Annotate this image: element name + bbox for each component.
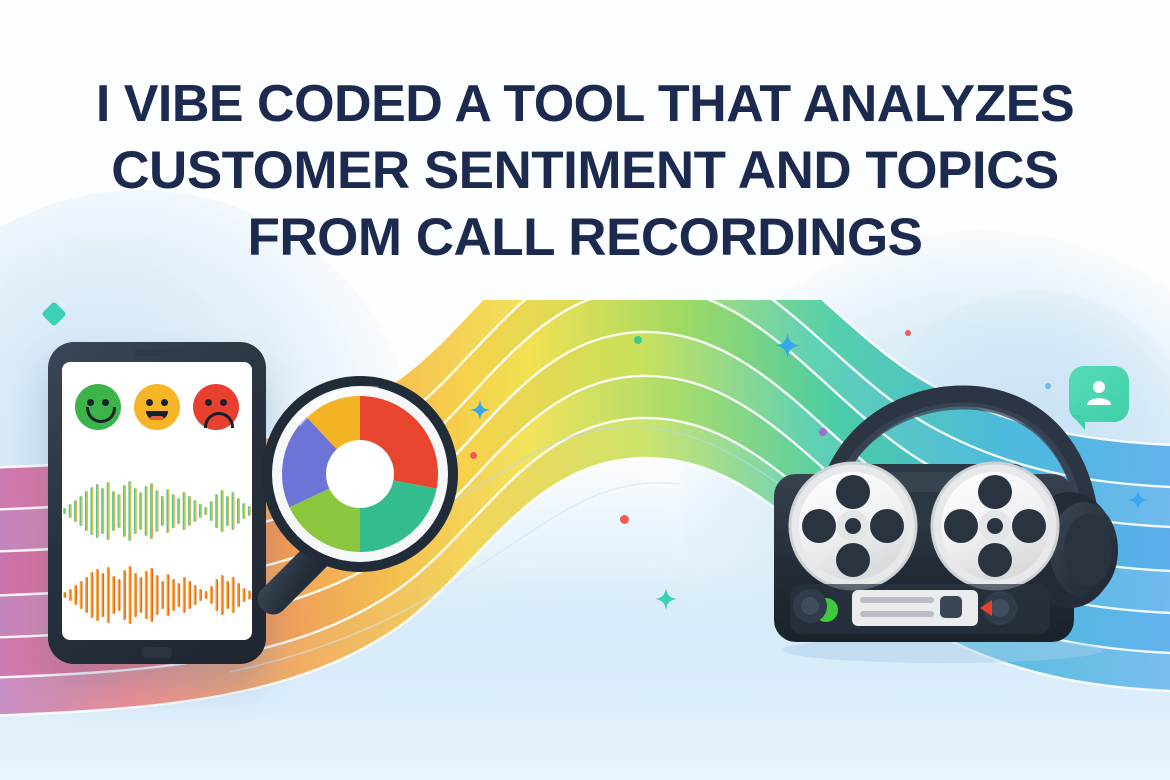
phone-speaker-notch — [134, 349, 180, 356]
eye-left-icon — [146, 399, 153, 406]
smile-mouth-icon — [86, 407, 116, 423]
phone-screen[interactable] — [62, 362, 252, 640]
display-indicator-square — [940, 596, 962, 618]
hero-banner: I VIBE CODED A TOOL THAT ANALYZES CUSTOM… — [0, 0, 1170, 780]
sparkle-star-blue-left — [470, 400, 490, 420]
eye-left-icon — [205, 399, 212, 406]
frown-mouth-icon — [204, 412, 234, 428]
bubble-tail — [1072, 415, 1085, 430]
positive-sentiment-face[interactable] — [75, 384, 121, 430]
waveform-top — [62, 474, 252, 548]
dot-red-right — [905, 330, 911, 336]
eye-left-icon — [87, 399, 94, 406]
page-title: I VIBE CODED A TOOL THAT ANALYZES CUSTOM… — [0, 78, 1170, 265]
tape-reel-left[interactable] — [790, 463, 916, 589]
smartphone-mockup[interactable] — [48, 342, 266, 664]
dot-red-upper — [470, 452, 477, 459]
negative-sentiment-face[interactable] — [193, 384, 239, 430]
title-line-3: FROM CALL RECORDINGS — [0, 211, 1170, 265]
open-mouth-icon — [146, 411, 168, 420]
sparkle-diamond-teal-bottom — [655, 588, 677, 610]
recorder-control-panel[interactable] — [790, 584, 1050, 634]
sparkle-diamond-blue-right — [1128, 490, 1148, 510]
neutral-sentiment-face[interactable] — [134, 384, 180, 430]
title-line-1: I VIBE CODED A TOOL THAT ANALYZES — [0, 78, 1170, 131]
sentiment-face-row — [62, 384, 252, 430]
phone-home-indicator — [142, 647, 172, 658]
person-icon — [1084, 378, 1114, 408]
dot-purple-right — [819, 428, 827, 436]
magnifying-glass[interactable] — [250, 368, 460, 658]
customer-chat-bubble[interactable] — [1069, 366, 1129, 422]
title-line-2: CUSTOMER SENTIMENT AND TOPICS — [0, 144, 1170, 198]
dot-red-mid — [620, 515, 629, 524]
donut-hole — [326, 440, 394, 508]
dot-blue-right — [1045, 383, 1051, 389]
tape-reel-right[interactable] — [932, 463, 1058, 589]
eye-right-icon — [102, 399, 109, 406]
sparkle-star-blue-mid — [775, 333, 800, 358]
waveform-bottom — [62, 558, 252, 632]
eye-right-icon — [161, 399, 168, 406]
dot-green-upper — [634, 336, 642, 344]
eye-right-icon — [220, 399, 227, 406]
